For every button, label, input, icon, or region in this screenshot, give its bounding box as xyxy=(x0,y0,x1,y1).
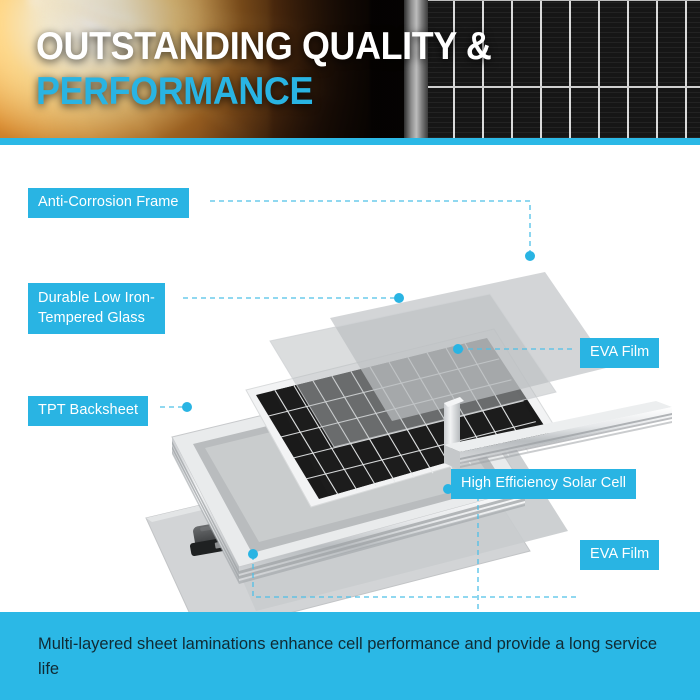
title-line-2: PERFORMANCE xyxy=(36,69,404,114)
title-line-1: OUTSTANDING QUALITY & xyxy=(36,24,404,69)
solar-panel-photo xyxy=(404,0,700,138)
dot-eva-film-bottom xyxy=(248,549,258,559)
dot-anti-corrosion-frame xyxy=(525,251,535,261)
page-title: OUTSTANDING QUALITY & PERFORMANCE xyxy=(36,24,436,114)
dot-eva-film-top xyxy=(453,344,463,354)
label-solar-cell[interactable]: High Efficiency Solar Cell xyxy=(451,469,636,499)
panel-busbar xyxy=(426,0,700,1)
dot-tpt-backsheet xyxy=(182,402,192,412)
footer-caption-bar: Multi-layered sheet laminations enhance … xyxy=(0,612,700,700)
dot-tempered-glass xyxy=(394,293,404,303)
panel-microlines xyxy=(426,0,700,138)
label-eva-film-top[interactable]: EVA Film xyxy=(580,338,659,368)
panel-busbar xyxy=(426,86,700,88)
label-tpt-backsheet[interactable]: TPT Backsheet xyxy=(28,396,148,426)
footer-caption-text: Multi-layered sheet laminations enhance … xyxy=(38,632,664,682)
header-banner: OUTSTANDING QUALITY & PERFORMANCE xyxy=(0,0,700,138)
label-eva-film-bottom[interactable]: EVA Film xyxy=(580,540,659,570)
label-anti-corrosion-frame[interactable]: Anti-Corrosion Frame xyxy=(28,188,189,218)
product-infographic: OUTSTANDING QUALITY & PERFORMANCE xyxy=(0,0,700,700)
label-tempered-glass[interactable]: Durable Low Iron- Tempered Glass xyxy=(28,283,165,334)
header-divider xyxy=(0,138,700,145)
